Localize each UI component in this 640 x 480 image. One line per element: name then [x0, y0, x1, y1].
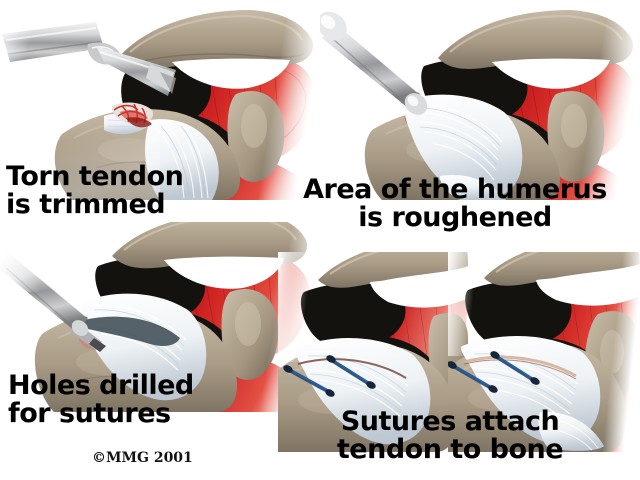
panel-2-artwork [320, 0, 640, 200]
panel-humerus-roughened [320, 0, 640, 200]
caption-humerus-roughened: Area of the humerus is roughened [290, 176, 620, 231]
copyright-notice: ©MMG 2001 [92, 450, 193, 466]
caption-sutures-attach: Sutures attach tendon to bone [285, 408, 615, 463]
caption-holes-drilled: Holes drilled for sutures [8, 372, 194, 427]
caption-torn-tendon-trimmed: Torn tendon is trimmed [6, 163, 183, 218]
illustration-canvas: Torn tendon is trimmed Area of the humer… [0, 0, 640, 480]
burr-instrument [320, 6, 432, 120]
